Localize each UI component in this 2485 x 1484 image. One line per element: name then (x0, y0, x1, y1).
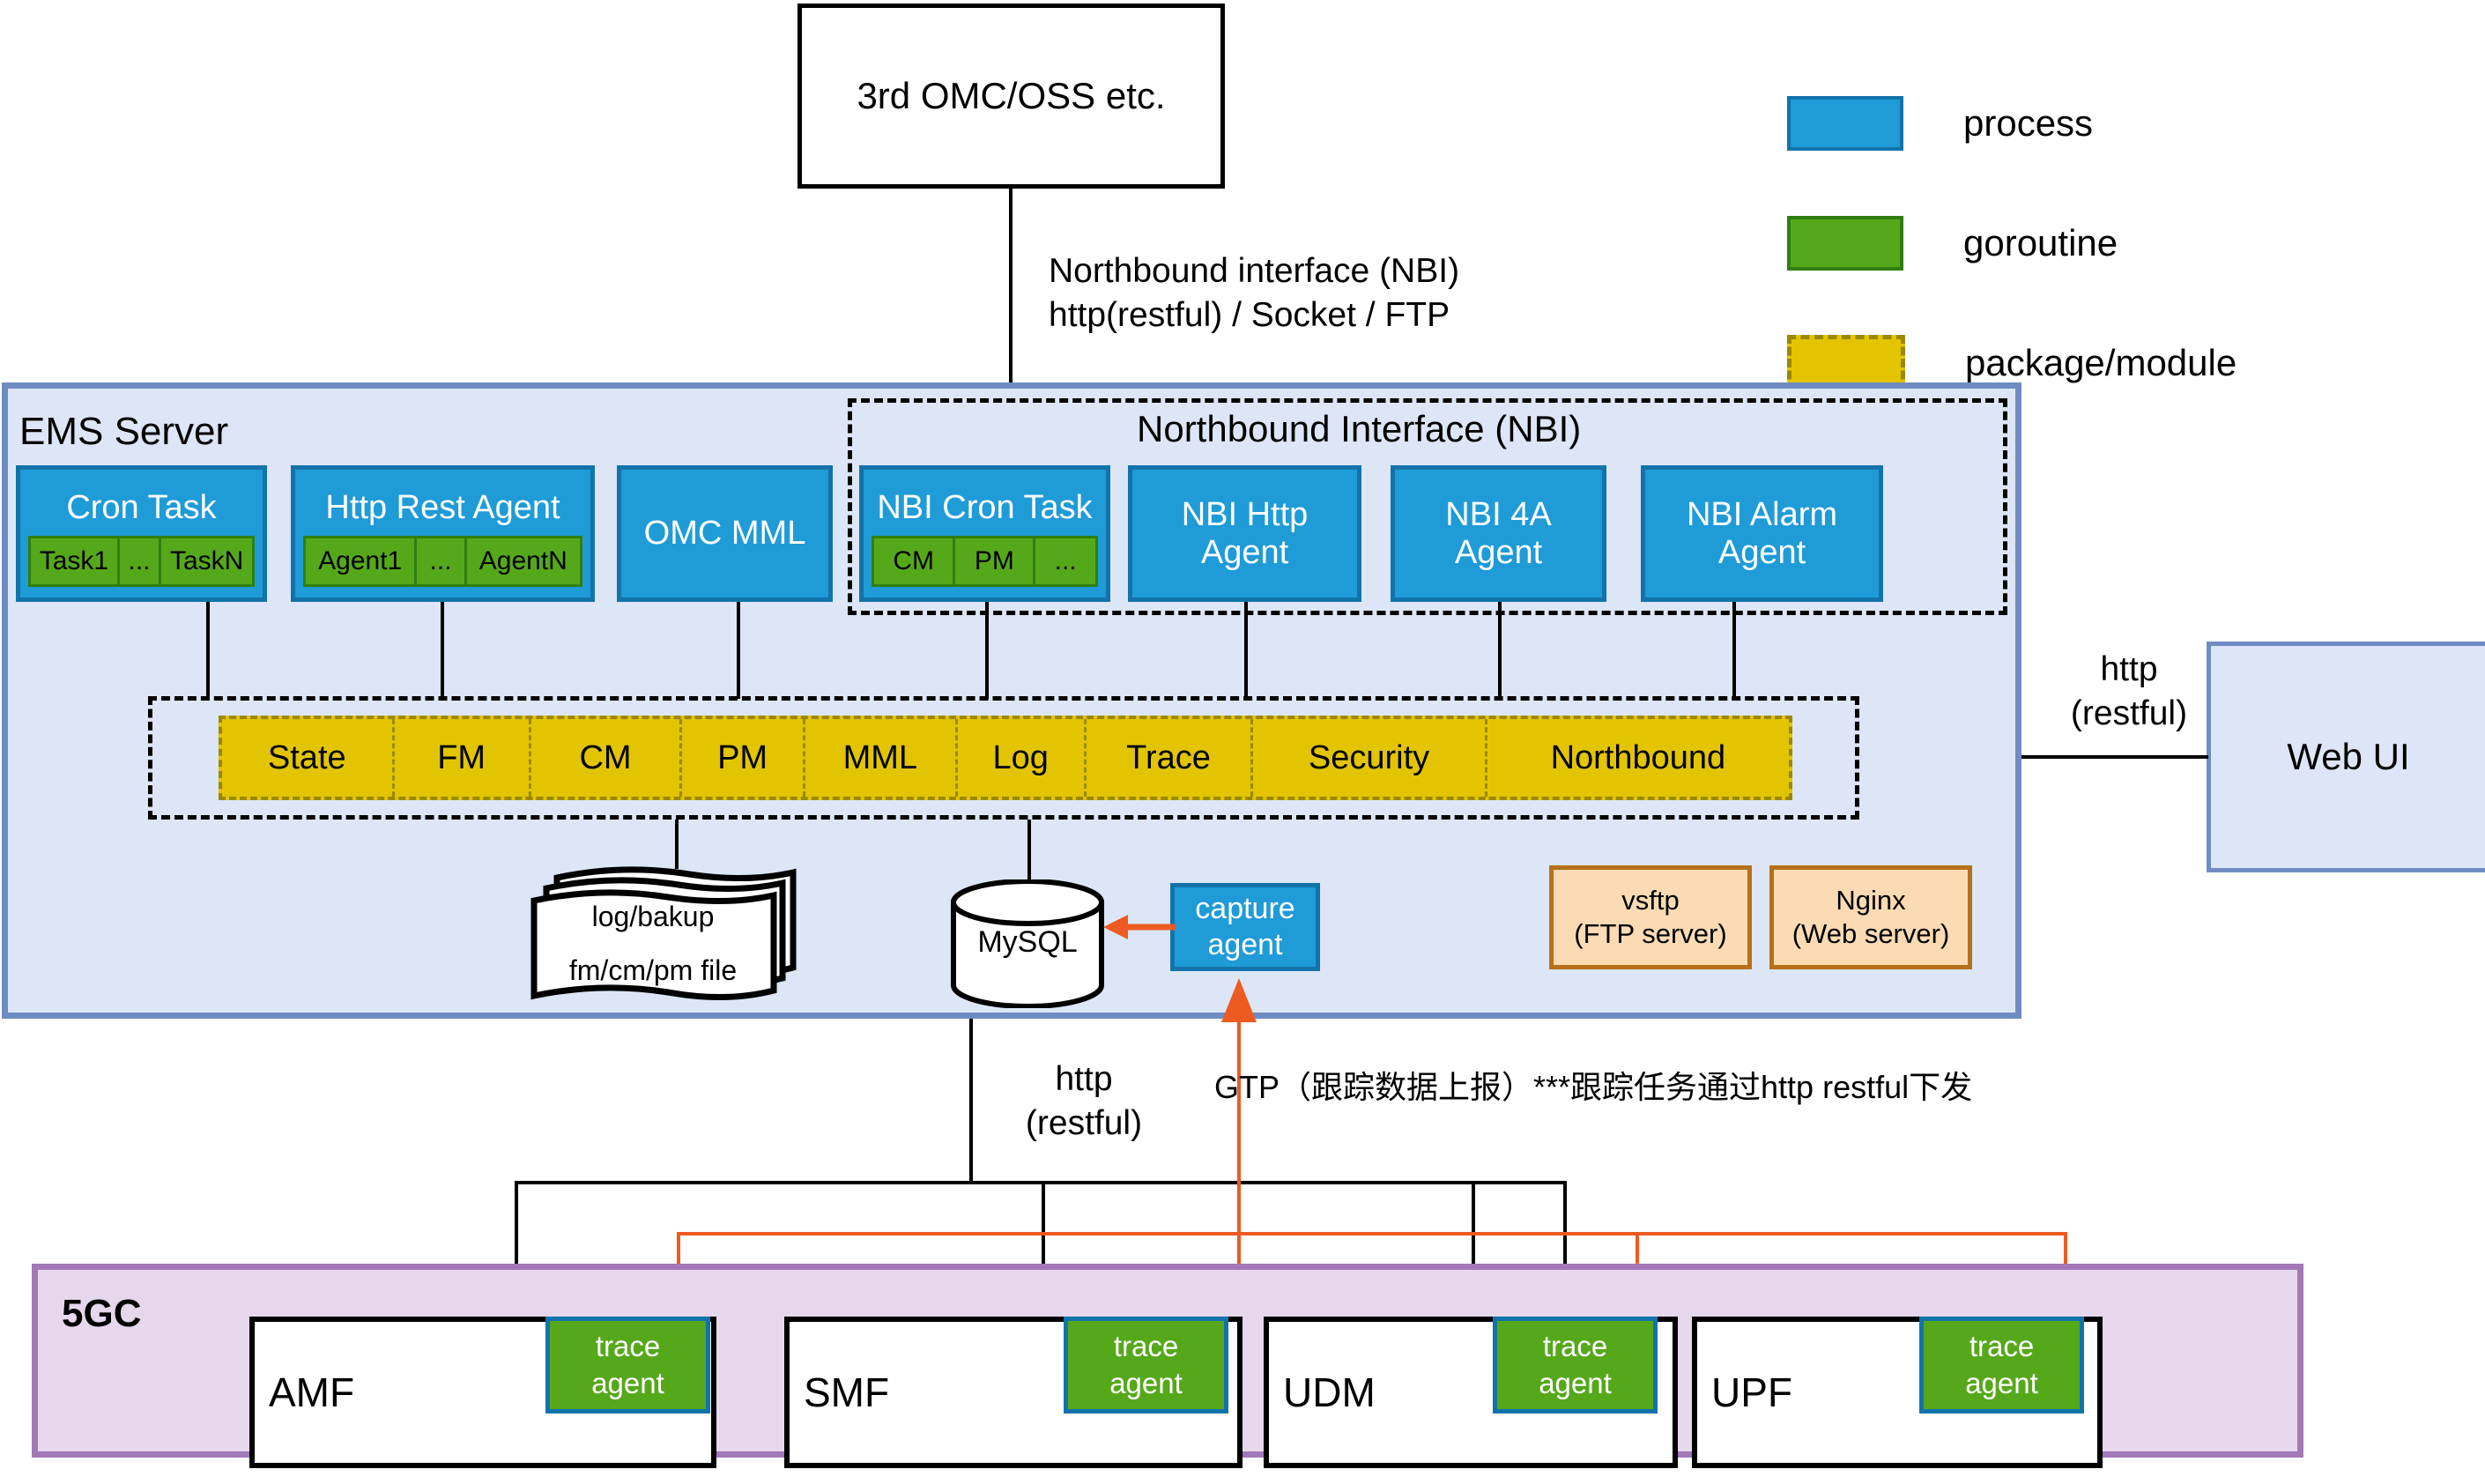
goroutine-cell: Agent1 (306, 538, 417, 584)
web-ui-label: Web UI (2287, 736, 2409, 778)
trace-agent-smf-line2: agent (1109, 1365, 1183, 1402)
trace-agent-udm[interactable]: trace agent (1493, 1317, 1658, 1414)
ems-server-title: EMS Server (19, 410, 228, 454)
process-nbi-cron-task-label: NBI Cron Task (864, 470, 1106, 536)
goroutine-cell: TaskN (161, 538, 252, 584)
legend-label-package: package/module (1965, 342, 2236, 384)
nf-label-upf: UPF (1711, 1369, 1792, 1416)
web-ui-link-label: http (restful) (2041, 648, 2217, 736)
package-security[interactable]: Security (1253, 719, 1487, 797)
external-oss-label: 3rd OMC/OSS etc. (857, 75, 1165, 117)
trace-agent-amf-line1: trace (596, 1328, 660, 1365)
trace-agent-udm-line2: agent (1539, 1365, 1612, 1402)
package-state[interactable]: State (222, 719, 395, 797)
nf-label-amf: AMF (269, 1369, 354, 1416)
goroutine-cell: Task1 (31, 538, 120, 584)
connector-nbi-cron-task-to-packages (985, 602, 989, 699)
service-nginx[interactable]: Nginx (Web server) (1769, 865, 1972, 969)
trace-agent-smf-line1: trace (1114, 1328, 1178, 1365)
diagram-canvas: 3rd OMC/OSS etc. Northbound interface (N… (0, 0, 2485, 1484)
goroutine-strip-nbi-cron-task: CM PM ... (872, 536, 1098, 587)
process-nbi-cron-task[interactable]: NBI Cron Task CM PM ... (859, 465, 1110, 602)
connector-cron-task-to-packages (206, 602, 210, 699)
process-nbi-4a-agent-label: NBI 4A Agent (1424, 470, 1574, 597)
process-nbi-4a-agent[interactable]: NBI 4A Agent (1391, 465, 1606, 602)
trace-agent-smf[interactable]: trace agent (1064, 1317, 1228, 1414)
service-vsftp-line1: vsftp (1621, 884, 1679, 917)
connector-nbi-4a-agent-to-packages (1498, 602, 1502, 699)
package-log[interactable]: Log (958, 719, 1087, 797)
database-label: MySQL (948, 925, 1107, 960)
gtp-note-label: GTP（跟踪数据上报）***跟踪任务通过http restful下发 (1214, 1062, 1972, 1108)
capture-agent-label: capture agent (1175, 887, 1316, 967)
goroutine-cell: AgentN (467, 538, 580, 584)
connector-ems-to-web-ui (2021, 755, 2208, 759)
nf-label-smf: SMF (804, 1369, 889, 1416)
package-cm[interactable]: CM (531, 719, 682, 797)
package-trace[interactable]: Trace (1087, 719, 1254, 797)
connector-ems-to-5gc-trunk (969, 1019, 973, 1183)
package-northbound[interactable]: Northbound (1487, 719, 1789, 797)
gtp-trunk-vertical (1237, 1013, 1241, 1234)
goroutine-cell: ... (417, 538, 466, 584)
legend-label-process: process (1963, 102, 2093, 145)
trace-agent-upf-line1: trace (1969, 1328, 2034, 1365)
connector-packages-to-database (1027, 820, 1031, 879)
connector-5gc-bus-horizontal (515, 1181, 1565, 1184)
connector-oss-to-nbi (1009, 189, 1013, 400)
package-mml[interactable]: MML (805, 719, 958, 797)
goroutine-cell: CM (874, 538, 955, 584)
connector-nbi-alarm-agent-to-packages (1732, 602, 1736, 699)
capture-agent-box[interactable]: capture agent (1170, 883, 1320, 971)
trace-agent-upf[interactable]: trace agent (1919, 1317, 2084, 1414)
capture-agent-line2: agent (1207, 927, 1282, 963)
service-vsftp[interactable]: vsftp (FTP server) (1549, 865, 1752, 969)
process-nbi-alarm-agent-label: NBI Alarm Agent (1670, 470, 1855, 597)
external-oss-box: 3rd OMC/OSS etc. (797, 4, 1225, 189)
gtp-bus-horizontal (677, 1232, 2067, 1235)
process-nbi-http-agent[interactable]: NBI Http Agent (1128, 465, 1361, 602)
package-fm[interactable]: FM (395, 719, 531, 797)
legend: process goroutine package/module (1787, 88, 2333, 398)
nbi-link-label: Northbound interface (NBI) http(restful)… (1049, 249, 1613, 338)
trace-agent-upf-line2: agent (1965, 1365, 2038, 1402)
trace-agent-udm-line1: trace (1543, 1328, 1607, 1365)
connector-omc-mml-to-packages (737, 602, 740, 699)
arrow-capture-agent-to-database (1100, 908, 1176, 946)
process-http-rest-agent[interactable]: Http Rest Agent Agent1 ... AgentN (291, 465, 595, 602)
file-store-line2: fm/cm/pm file (534, 944, 772, 998)
gtp-arrowhead (1220, 976, 1258, 1026)
process-omc-mml-label: OMC MML (621, 470, 828, 597)
process-swatch (1787, 96, 1903, 151)
process-nbi-http-agent-label: NBI Http Agent (1157, 470, 1333, 597)
process-cron-task-label: Cron Task (20, 470, 263, 536)
service-nginx-line1: Nginx (1836, 884, 1905, 917)
connector-http-rest-agent-to-packages (441, 602, 444, 699)
web-ui-box: Web UI (2207, 642, 2485, 872)
file-store-line1: log/bakup (534, 890, 772, 944)
goroutine-cell: ... (120, 538, 161, 584)
nf-label-udm: UDM (1283, 1369, 1376, 1416)
file-store-label: log/bakup fm/cm/pm file (534, 890, 772, 998)
package-module-bar: State FM CM PM MML Log Trace Security No… (219, 716, 1792, 800)
goroutine-swatch (1787, 216, 1903, 271)
goroutine-cell: ... (1035, 538, 1095, 584)
connector-nbi-http-agent-to-packages (1244, 602, 1248, 699)
package-pm[interactable]: PM (682, 719, 805, 797)
goroutine-strip-cron-task: Task1 ... TaskN (28, 536, 255, 587)
legend-label-goroutine: goroutine (1963, 222, 2118, 264)
core-network-title: 5GC (62, 1292, 141, 1336)
nbi-group-title: Northbound Interface (NBI) (1137, 408, 1581, 450)
process-omc-mml[interactable]: OMC MML (617, 465, 833, 602)
process-http-rest-agent-label: Http Rest Agent (295, 470, 590, 536)
goroutine-cell: PM (955, 538, 1035, 584)
service-nginx-line2: (Web server) (1792, 917, 1950, 951)
process-cron-task[interactable]: Cron Task Task1 ... TaskN (16, 465, 267, 602)
capture-agent-line1: capture (1195, 891, 1294, 927)
service-vsftp-line2: (FTP server) (1574, 917, 1726, 951)
http-restful-link-label: http (restful) (987, 1057, 1181, 1146)
goroutine-strip-http-rest-agent: Agent1 ... AgentN (303, 536, 582, 587)
trace-agent-amf[interactable]: trace agent (545, 1317, 710, 1414)
trace-agent-amf-line2: agent (591, 1365, 664, 1402)
process-nbi-alarm-agent[interactable]: NBI Alarm Agent (1641, 465, 1883, 602)
